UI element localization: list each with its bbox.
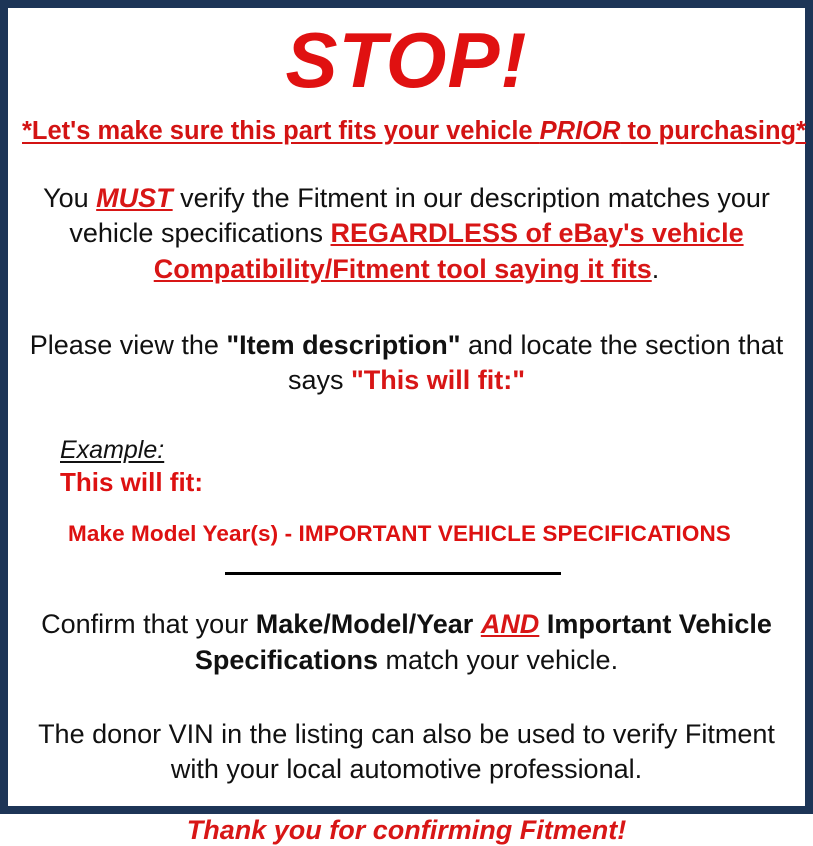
confirm-make-model-year: Make/Model/Year: [256, 609, 481, 639]
notice-content: STOP! *Let's make sure this part fits yo…: [8, 8, 805, 806]
tagline-emphasis-prior: PRIOR: [540, 117, 621, 145]
section-divider: [225, 572, 561, 575]
and-emphasis: AND: [481, 609, 540, 639]
example-fit-heading: This will fit:: [60, 467, 791, 498]
example-spec-line: Make Model Year(s) - IMPORTANT VEHICLE S…: [60, 520, 791, 547]
item-description-label: "Item description": [226, 330, 460, 360]
example-block: Example: This will fit: Make Model Year(…: [22, 435, 791, 548]
confirm-seg-2: match your vehicle.: [378, 645, 618, 675]
must-seg-3: .: [652, 254, 660, 284]
tagline-text-after: to purchasing*: [620, 117, 806, 145]
fitment-tagline: *Let's make sure this part fits your veh…: [22, 116, 791, 147]
must-verify-paragraph: You MUST verify the Fitment in our descr…: [22, 181, 791, 288]
confirm-paragraph: Confirm that your Make/Model/Year AND Im…: [22, 607, 791, 678]
thank-you-line: Thank you for confirming Fitment!: [22, 814, 791, 846]
must-emphasis: MUST: [96, 183, 173, 213]
fitment-notice-frame: STOP! *Let's make sure this part fits yo…: [0, 0, 813, 814]
stop-headline: STOP!: [22, 8, 791, 106]
example-label-row: Example:: [60, 435, 791, 466]
please-seg-1: Please view the: [30, 330, 227, 360]
confirm-seg-1: Confirm that your: [41, 609, 256, 639]
must-seg-1: You: [43, 183, 96, 213]
tagline-text-before: *Let's make sure this part fits your veh…: [22, 117, 540, 145]
item-description-paragraph: Please view the "Item description" and l…: [22, 328, 791, 399]
this-will-fit-quote: "This will fit:": [351, 365, 525, 395]
example-label: Example:: [60, 435, 164, 466]
donor-vin-paragraph: The donor VIN in the listing can also be…: [22, 717, 791, 788]
section-divider-wrap: [22, 571, 791, 575]
